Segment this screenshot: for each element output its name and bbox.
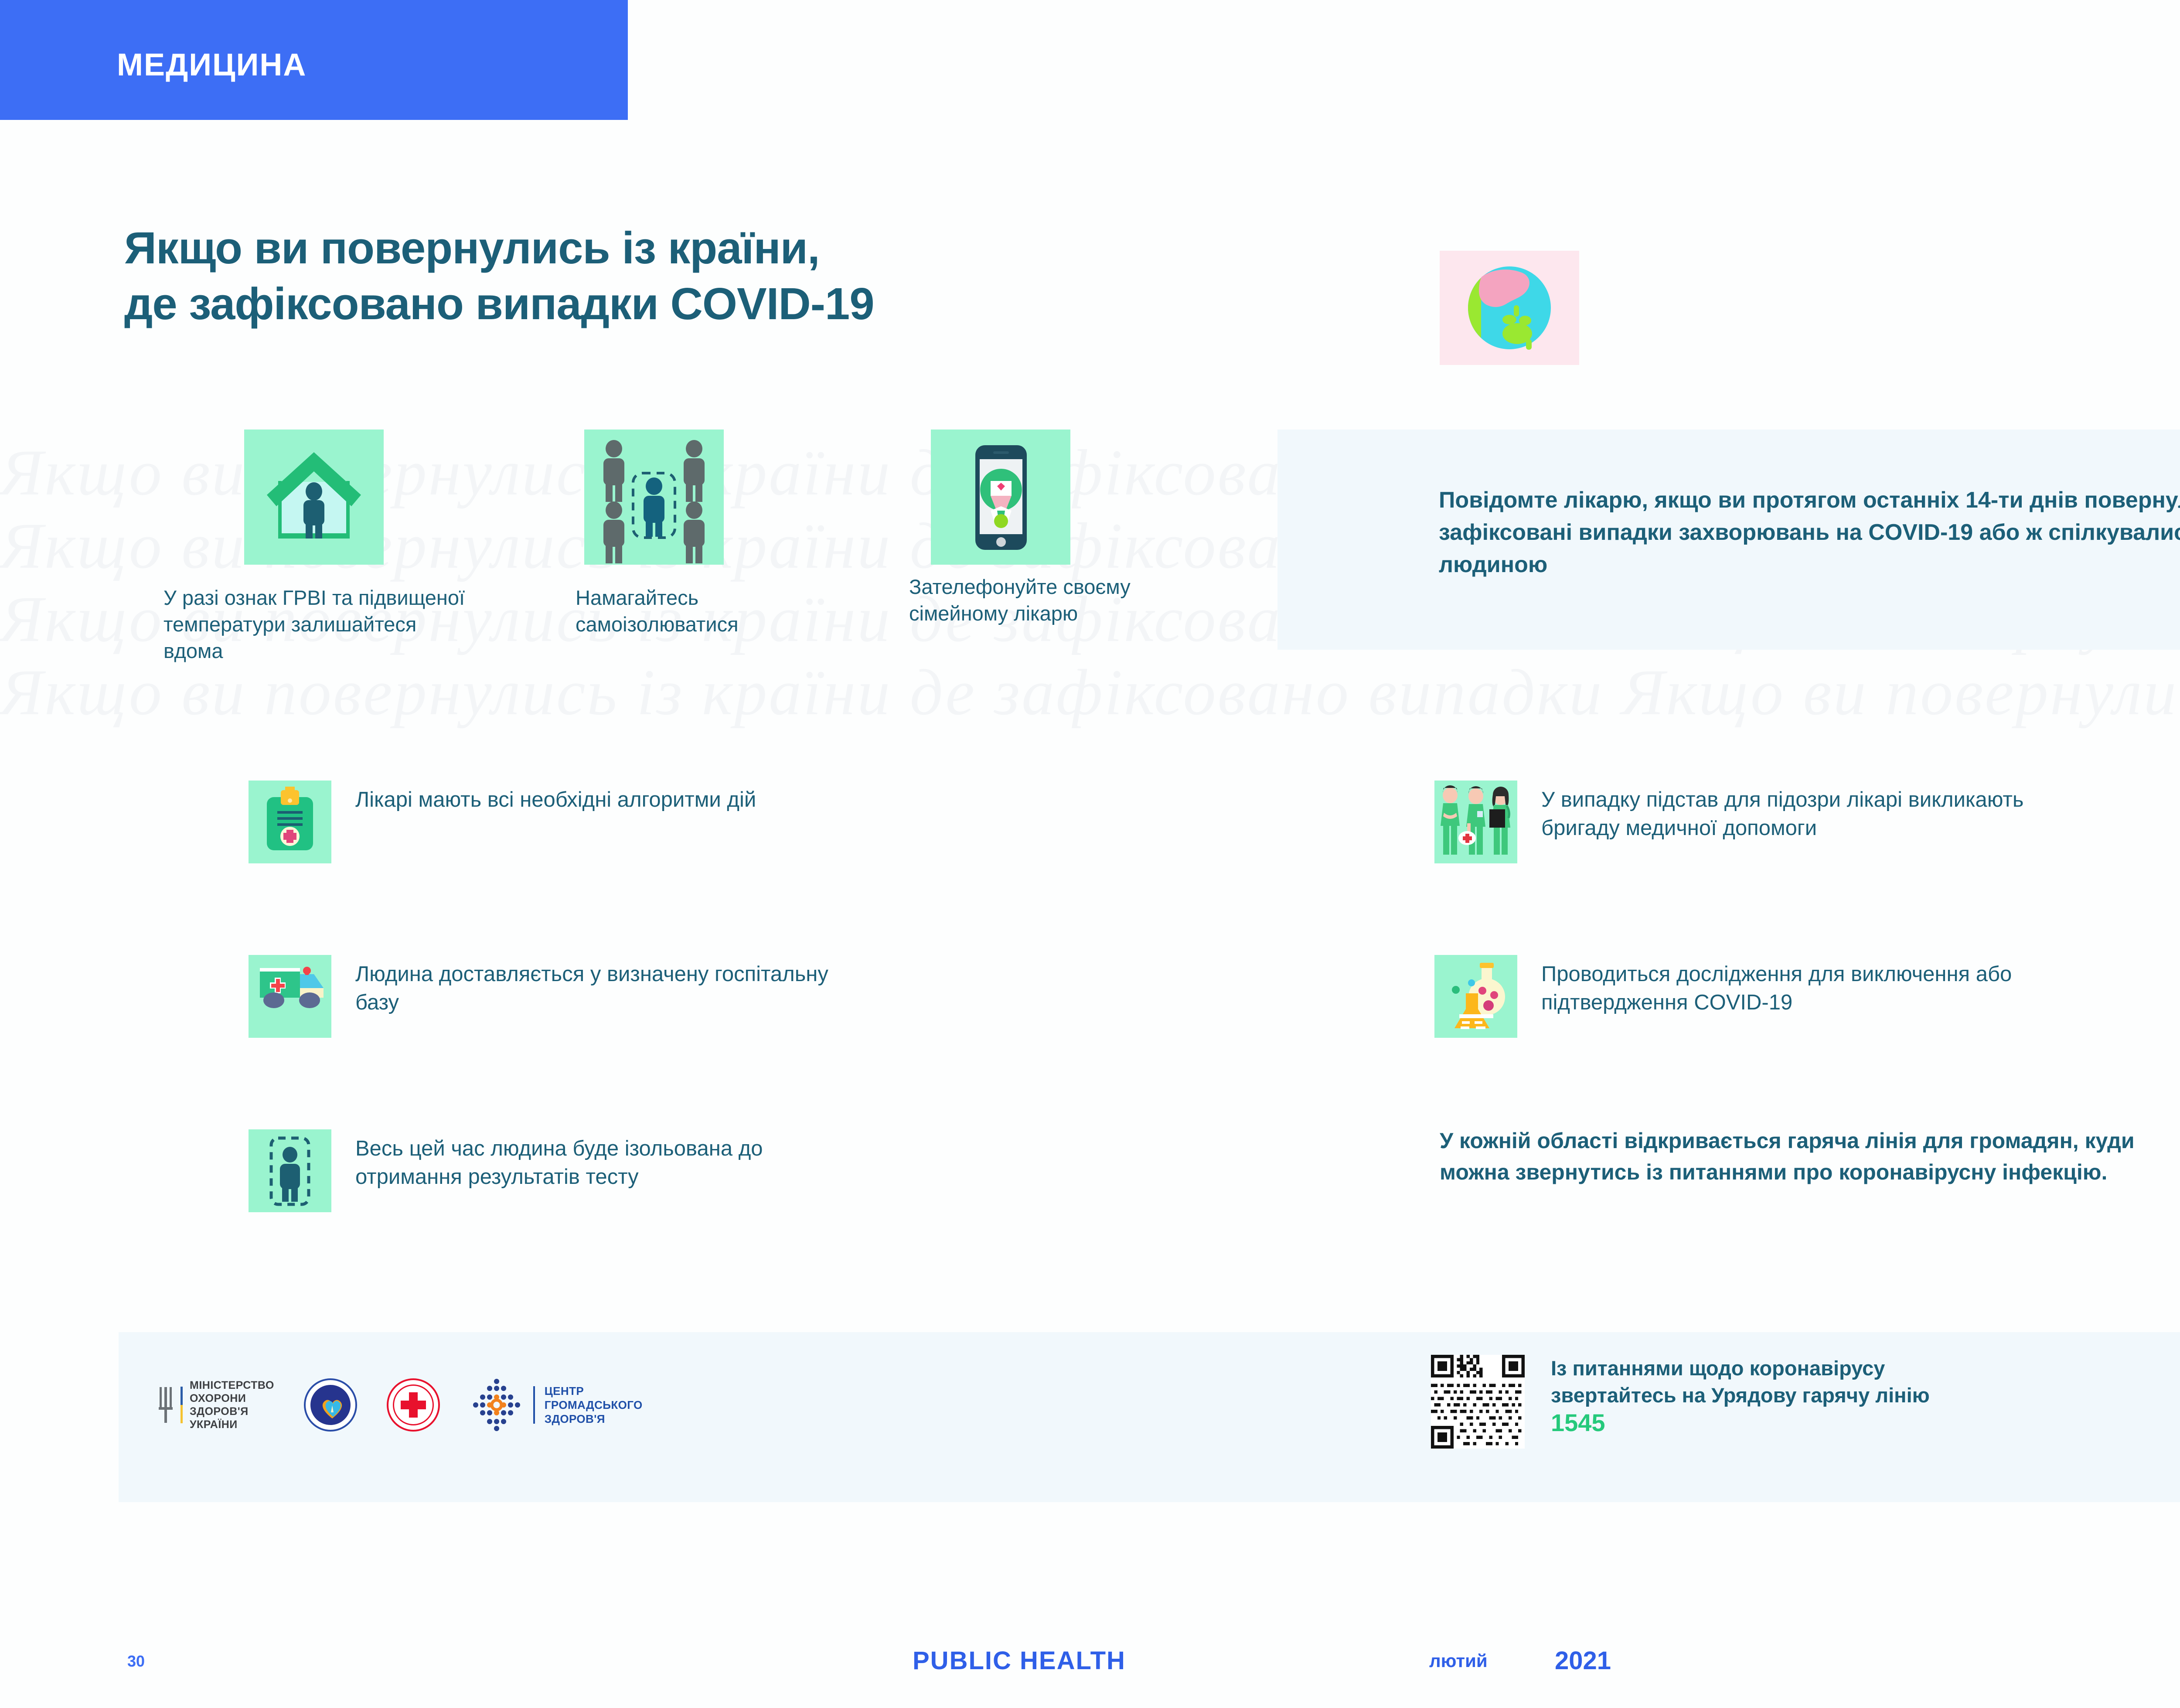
page-number-left: 30 bbox=[127, 1652, 145, 1670]
ministry-of-health-label: МІНІСТЕРСТВО ОХОРОНИ ЗДОРОВ'Я УКРАЇНИ bbox=[190, 1379, 274, 1431]
qr-hotline-block: Із питаннями щодо коронавірусу звертайте… bbox=[1431, 1355, 1930, 1449]
list-item: Лікарі мають всі необхідні алгоритми дій bbox=[249, 781, 903, 863]
hotline-note: У кожній області відкривається гаряча лі… bbox=[1440, 1125, 2180, 1188]
list-item-text: Весь цей час людина буде ізольована до о… bbox=[355, 1129, 835, 1191]
publication-year: 2021 bbox=[1555, 1646, 1611, 1675]
qr-note-line-2: звертайтесь на Урядову гарячу лінію bbox=[1551, 1382, 1930, 1409]
top-card-caption: У разі ознак ГРВІ та підвищеної температ… bbox=[163, 584, 469, 664]
lab-flask-icon bbox=[1434, 955, 1517, 1038]
publication-brand: PUBLIC HEALTH bbox=[913, 1646, 1126, 1675]
medical-team-icon bbox=[1434, 781, 1517, 863]
red-cross-icon bbox=[401, 1392, 426, 1418]
logo-line: ГРОМАДСЬКОГО bbox=[545, 1398, 643, 1412]
qr-note-line-1: Із питаннями щодо коронавірусу bbox=[1551, 1355, 1930, 1382]
ministry-of-health-logo: МІНІСТЕРСТВО ОХОРОНИ ЗДОРОВ'Я УКРАЇНИ bbox=[158, 1379, 274, 1431]
list-item: Весь цей час людина буде ізольована до о… bbox=[249, 1129, 903, 1212]
info-panel: Повідомте лікарю, якщо ви протягом остан… bbox=[1277, 430, 2180, 650]
logo-line: ЗДОРОВ'Я bbox=[545, 1412, 643, 1426]
list-item-text: Проводиться дослідження для виключення а… bbox=[1541, 955, 2086, 1017]
list-item: Проводиться дослідження для виключення а… bbox=[1434, 955, 2180, 1038]
top-card-caption: Намагайтесь самоізолюватися bbox=[576, 584, 785, 638]
publication-month: лютий bbox=[1429, 1650, 1488, 1671]
volunteer-seal-logo bbox=[304, 1378, 357, 1432]
logo-line: УКРАЇНИ bbox=[190, 1418, 274, 1431]
logo-divider bbox=[181, 1387, 183, 1423]
clipboard-medical-icon bbox=[249, 781, 331, 863]
stay-home-icon bbox=[244, 430, 384, 565]
top-card-call-doctor: Зателефонуйте своєму сімейному лікарю bbox=[931, 430, 1070, 565]
public-health-center-label: ЦЕНТР ГРОМАДСЬКОГО ЗДОРОВ'Я bbox=[545, 1384, 643, 1426]
qr-code bbox=[1431, 1355, 1525, 1449]
trident-icon bbox=[158, 1387, 174, 1423]
list-item: У випадку підстав для підозри лікарі вик… bbox=[1434, 781, 2180, 863]
list-item-text: У випадку підстав для підозри лікарі вик… bbox=[1541, 781, 2086, 842]
ambulance-icon bbox=[249, 955, 331, 1038]
top-card-caption: Зателефонуйте своєму сімейному лікарю bbox=[909, 573, 1153, 627]
list-item-text: Лікарі мають всі необхідні алгоритми дій bbox=[355, 781, 835, 814]
info-panel-text: Повідомте лікарю, якщо ви протягом остан… bbox=[1439, 484, 2180, 581]
logo-line: ЦЕНТР bbox=[545, 1384, 643, 1398]
hotline-number: 1545 bbox=[1551, 1409, 1930, 1437]
top-card-self-isolate: Намагайтесь самоізолюватися bbox=[584, 430, 724, 565]
list-item: Людина доставляється у визначену госпіта… bbox=[249, 955, 903, 1038]
logo-line: ОХОРОНИ bbox=[190, 1392, 274, 1405]
logo-line: ЗДОРОВ'Я bbox=[190, 1405, 274, 1418]
social-distancing-icon bbox=[584, 430, 724, 565]
isolated-person-icon bbox=[249, 1129, 331, 1212]
list-item-text: Людина доставляється у визначену госпіта… bbox=[355, 955, 835, 1017]
public-health-center-logo: ЦЕНТР ГРОМАДСЬКОГО ЗДОРОВ'Я bbox=[470, 1378, 643, 1432]
cgz-dots-icon bbox=[470, 1378, 524, 1432]
red-cross-society-logo bbox=[387, 1378, 440, 1432]
top-card-stay-home: У разі ознак ГРВІ та підвищеної температ… bbox=[244, 430, 384, 565]
logo-divider bbox=[533, 1386, 535, 1424]
heart-hands-icon bbox=[319, 1395, 346, 1420]
logo-line: МІНІСТЕРСТВО bbox=[190, 1379, 274, 1392]
call-doctor-phone-icon bbox=[931, 430, 1070, 565]
footer-panel: МІНІСТЕРСТВО ОХОРОНИ ЗДОРОВ'Я УКРАЇНИ bbox=[119, 1332, 2180, 1502]
page-footer: 30 PUBLIC HEALTH лютий 2021 31 bbox=[0, 1625, 2180, 1708]
qr-hotline-text: Із питаннями щодо коронавірусу звертайте… bbox=[1551, 1355, 1930, 1437]
partner-logos: МІНІСТЕРСТВО ОХОРОНИ ЗДОРОВ'Я УКРАЇНИ bbox=[158, 1378, 643, 1432]
